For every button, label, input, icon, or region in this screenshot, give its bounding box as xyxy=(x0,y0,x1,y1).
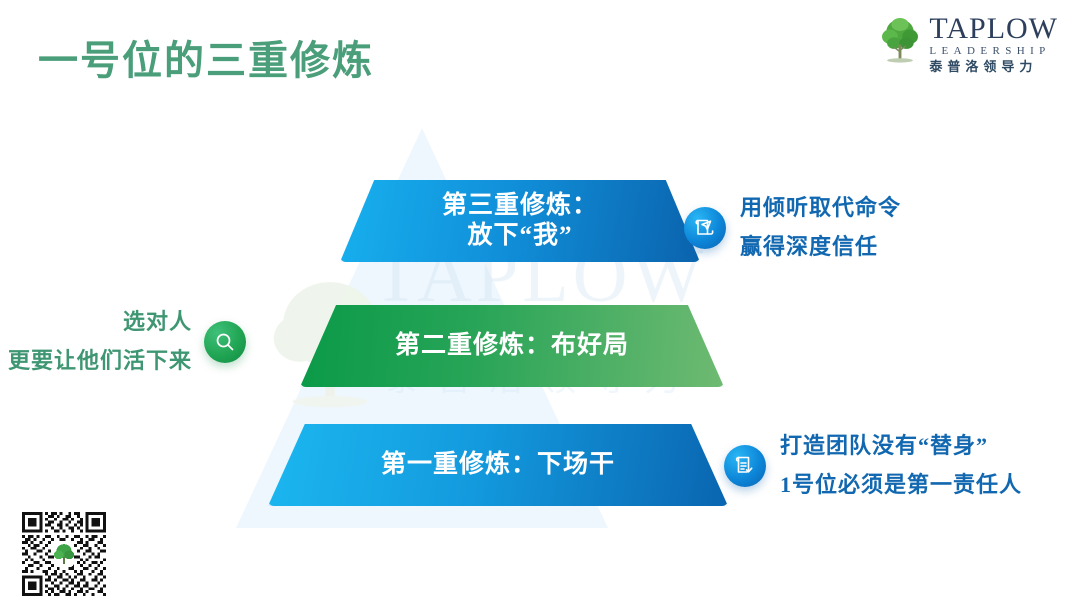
pyramid-layer-one[interactable]: 第一重修炼：下场干 xyxy=(268,424,728,506)
callout-middle-left-line2: 更要让他们活下来 xyxy=(8,342,192,381)
callout-top-right-line2: 赢得深度信任 xyxy=(740,228,901,267)
callout-bottom-right-line2: 1号位必须是第一责任人 xyxy=(780,466,1022,505)
pyramid-layer-two-label: 第二重修炼：布好局 xyxy=(395,331,629,362)
page-title: 一号位的三重修炼 xyxy=(38,28,374,86)
brand-logo: TAPLOW LEADERSHIP 泰普洛领导力 xyxy=(877,14,1058,73)
pyramid-layer-two[interactable]: 第二重修炼：布好局 xyxy=(300,305,724,387)
pyramid-layer-three-line1: 第三重修炼： xyxy=(442,192,598,219)
brand-name: TAPLOW xyxy=(929,12,1058,45)
pyramid-layer-three-line2: 放下“我” xyxy=(467,222,572,249)
document-check-icon xyxy=(724,445,766,487)
qr-code[interactable] xyxy=(22,512,106,596)
callout-bottom-right-line1: 打造团队没有“替身” xyxy=(780,427,1022,466)
pyramid-layer-three[interactable]: 第三重修炼： 放下“我” xyxy=(340,180,700,262)
slide-canvas: TAPLOW LEADERSHIP 泰普洛领导力 一号位的三重修炼 TAPLOW… xyxy=(0,0,1080,608)
brand-sub: LEADERSHIP xyxy=(929,46,1058,57)
callout-bottom-right: 打造团队没有“替身” 1号位必须是第一责任人 xyxy=(724,427,1022,504)
callout-top-right-line1: 用倾听取代命令 xyxy=(740,189,901,228)
tree-icon xyxy=(877,14,923,73)
send-message-icon xyxy=(684,207,726,249)
brand-cn-name: 泰普洛领导力 xyxy=(929,60,1058,73)
callout-middle-left-text: 选对人 更要让他们活下来 xyxy=(8,303,192,380)
callout-bottom-right-text: 打造团队没有“替身” 1号位必须是第一责任人 xyxy=(780,427,1022,504)
search-icon xyxy=(204,321,246,363)
callout-top-right: 用倾听取代命令 赢得深度信任 xyxy=(684,189,901,266)
callout-middle-left: 选对人 更要让他们活下来 xyxy=(8,303,246,380)
callout-middle-left-line1: 选对人 xyxy=(8,303,192,342)
pyramid-layer-one-label: 第一重修炼：下场干 xyxy=(381,450,615,481)
callout-top-right-text: 用倾听取代命令 赢得深度信任 xyxy=(740,189,901,266)
